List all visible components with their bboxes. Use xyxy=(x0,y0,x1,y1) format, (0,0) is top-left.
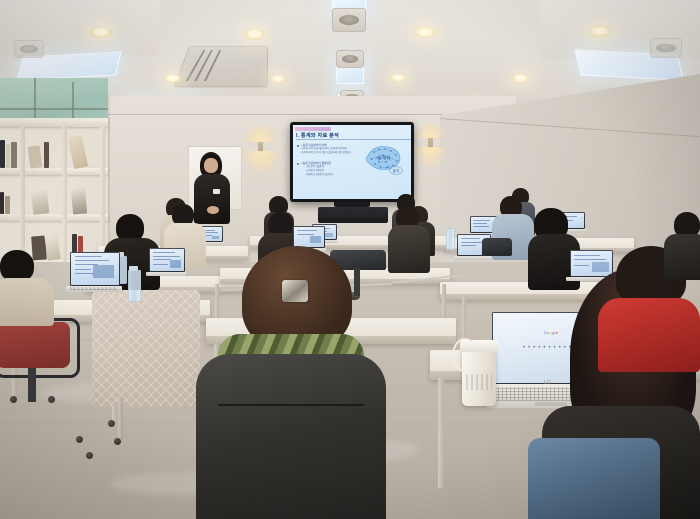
caster-coat-chair-2 xyxy=(86,452,93,459)
jacket-yoke-seam xyxy=(218,404,364,406)
book xyxy=(31,187,50,215)
slide-heading: I. 통계와 자료 분석 xyxy=(296,132,339,139)
window-mullion-h xyxy=(0,108,108,110)
foreground-woman-green-scarf xyxy=(196,246,386,519)
ac-vent-1 xyxy=(173,46,268,87)
book xyxy=(0,192,4,214)
table-leg-front-4 xyxy=(438,378,444,488)
water-bottle-3 xyxy=(128,270,141,302)
presentation-screen[interactable]: I. 통계와 자료 분석 ▪ 통계 자료분석의 이해 - 자료의 수집과 정리를… xyxy=(290,122,414,202)
ceiling-speaker-2 xyxy=(336,50,364,68)
slide-bullet-marker-2 xyxy=(297,163,299,165)
slide-bullet-6: - 평균비교 회귀분석 분산분석 xyxy=(305,174,333,177)
brain-caption: 통계학 xyxy=(378,155,390,162)
ceiling-speaker-5 xyxy=(650,38,682,58)
book xyxy=(0,140,5,168)
presenter-hand xyxy=(207,206,219,214)
wall-seam-back xyxy=(86,114,442,115)
tv-soundbar xyxy=(318,207,388,223)
book xyxy=(5,196,10,214)
chair-dark-2[interactable] xyxy=(482,238,512,256)
slide-bullet-0: ▪ 통계 자료분석의 이해 xyxy=(301,144,326,147)
caster-3 xyxy=(10,396,17,403)
book xyxy=(71,187,87,214)
shelf-board-3 xyxy=(0,214,108,221)
table-leg xyxy=(462,296,466,344)
tumbler-handle xyxy=(452,338,478,372)
coat-chair-leg xyxy=(118,398,123,442)
downlight-8 xyxy=(512,74,529,83)
slide-bullet-3: ▪ 통계 자료분석의 활용방안 xyxy=(301,162,331,165)
blue-chair-foreground[interactable] xyxy=(528,438,660,519)
slide-rule xyxy=(296,139,411,140)
sconce-light-up-left xyxy=(245,124,277,142)
ceiling-speaker-4 xyxy=(14,40,44,58)
presenter-torso xyxy=(194,174,230,224)
slide-bullet-4: - 빈도분석 기술통계 xyxy=(305,166,324,169)
presenter-badge xyxy=(213,189,220,194)
quilted-coat-on-chair xyxy=(92,290,200,406)
slide-bullet-1: - 자료의 수집과 정리를 통하여 기초통계 파악하며 xyxy=(300,148,347,151)
book xyxy=(28,145,43,168)
brain-network-icon: 통계학 분석 xyxy=(362,143,406,177)
foreground-jacket xyxy=(196,354,386,519)
slide-tag-bar xyxy=(295,127,331,131)
classroom-photo: I. 통계와 자료 분석 ▪ 통계 자료분석의 이해 - 자료의 수집과 정리를… xyxy=(0,0,700,519)
slide-bullet-2: - 자료의 해석으로부터 결론 도출까지의 과정 설명한다 xyxy=(300,152,351,155)
book xyxy=(68,135,88,169)
downlight-6 xyxy=(270,75,286,83)
downlight-7 xyxy=(390,74,406,82)
sconce-light-up-right xyxy=(416,122,444,138)
caster-2 xyxy=(76,436,83,443)
downlight-3 xyxy=(414,27,436,38)
brain-bubble-caption: 분석 xyxy=(393,168,399,173)
laptop-mid-1[interactable] xyxy=(146,248,186,278)
chair-red-post xyxy=(28,368,36,402)
slide-bullet-marker xyxy=(297,145,299,147)
hair-clip xyxy=(282,280,308,302)
shelf-board-2 xyxy=(0,168,108,175)
presenter-face xyxy=(204,158,218,173)
sconce-light-down-right xyxy=(414,147,446,167)
shelf-board-top xyxy=(0,118,108,127)
slide: I. 통계와 자료 분석 ▪ 통계 자료분석의 이해 - 자료의 수집과 정리를… xyxy=(293,125,411,199)
book xyxy=(44,233,60,261)
caster-red-chair xyxy=(48,396,55,403)
downlight-5 xyxy=(164,74,181,83)
tumbler-label xyxy=(466,374,492,390)
book xyxy=(6,144,10,168)
slide-bullet-5: - 교차분석 상관분석 xyxy=(305,170,324,173)
bottle-cap-3 xyxy=(129,266,138,271)
laptop-front-left[interactable] xyxy=(66,252,122,296)
downlight-2 xyxy=(244,29,265,40)
downlight-4 xyxy=(588,26,611,37)
water-bottle-2 xyxy=(446,228,455,250)
caster-coat-chair xyxy=(114,438,121,445)
book xyxy=(11,142,17,168)
book xyxy=(44,142,49,168)
chair-red-frame xyxy=(0,318,80,378)
caster-1 xyxy=(108,420,115,427)
ceiling-speaker-1 xyxy=(332,8,366,32)
sconce-light-down-left xyxy=(243,151,279,173)
downlight-1 xyxy=(90,27,112,38)
